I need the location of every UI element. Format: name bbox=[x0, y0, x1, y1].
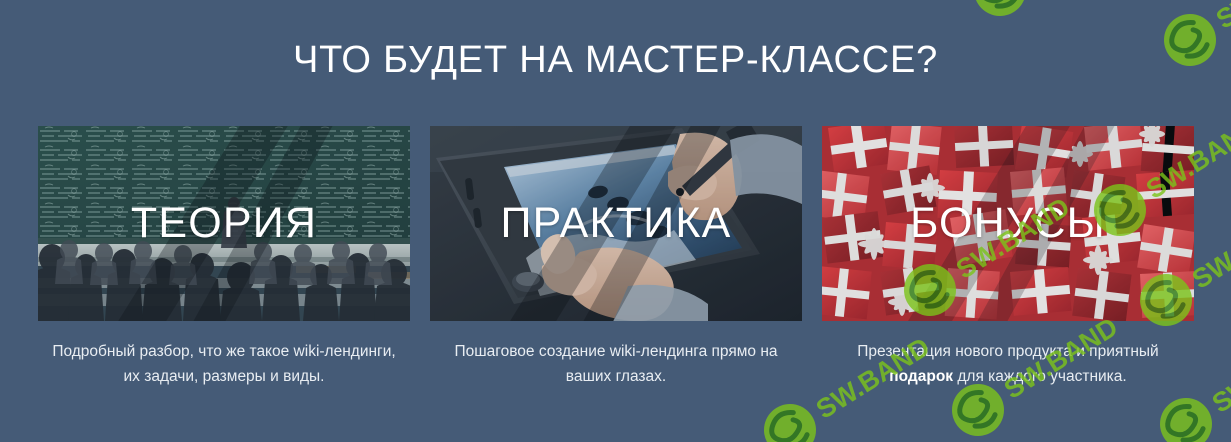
cards-row: ТЕОРИЯ Подробный разбор, что же такое wi… bbox=[38, 126, 1194, 389]
red-gift-boxes-photo: БОНУСЫ bbox=[822, 126, 1194, 321]
card-label-theory: ТЕОРИЯ bbox=[38, 126, 410, 321]
card-label-bonuses: БОНУСЫ bbox=[822, 126, 1194, 321]
card-practice[interactable]: ПРАКТИКА Пошаговое создание wiki-лендинг… bbox=[430, 126, 802, 389]
page-title: ЧТО БУДЕТ НА МАСТЕР-КЛАССЕ? bbox=[0, 36, 1231, 84]
card-caption-text: Подробный разбор, что же такое wiki-ленд… bbox=[52, 343, 395, 385]
card-caption-text: Пошаговое создание wiki-лендинга прямо н… bbox=[454, 343, 777, 385]
card-label-practice: ПРАКТИКА bbox=[430, 126, 802, 321]
card-theory[interactable]: ТЕОРИЯ Подробный разбор, что же такое wi… bbox=[38, 126, 410, 389]
card-bonuses[interactable]: БОНУСЫ Презентация нового продукта и при… bbox=[822, 126, 1194, 389]
card-caption-bonuses: Презентация нового продукта и приятный п… bbox=[822, 339, 1194, 389]
masterclass-section: ЧТО БУДЕТ НА МАСТЕР-КЛАССЕ? bbox=[0, 0, 1231, 442]
lecture-hall-chalkboard-photo: ТЕОРИЯ bbox=[38, 126, 410, 321]
card-caption-text-suffix: для каждого участника. bbox=[953, 368, 1127, 385]
card-caption-text-prefix: Презентация нового продукта и приятный bbox=[857, 343, 1158, 360]
graphics-tablet-drawing-photo: ПРАКТИКА bbox=[430, 126, 802, 321]
card-caption-text-bold: подарок bbox=[889, 368, 953, 385]
card-caption-practice: Пошаговое создание wiki-лендинга прямо н… bbox=[430, 339, 802, 389]
card-caption-theory: Подробный разбор, что же такое wiki-ленд… bbox=[38, 339, 410, 389]
